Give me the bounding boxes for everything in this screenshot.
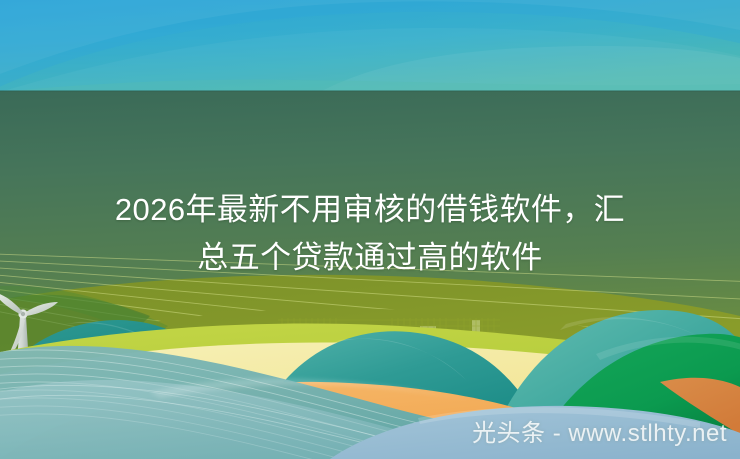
headline-line-2: 总五个贷款通过高的软件 <box>34 234 706 282</box>
sky-band <box>0 0 740 96</box>
promo-banner-image: 2026年最新不用审核的借钱软件，汇 总五个贷款通过高的软件 光头条 - www… <box>0 0 740 459</box>
site-watermark: 光头条 - www.stlhty.net <box>472 421 727 447</box>
page-title: 2026年最新不用审核的借钱软件，汇 总五个贷款通过高的软件 <box>0 186 740 282</box>
headline-line-1: 2026年最新不用审核的借钱软件，汇 <box>34 186 706 234</box>
